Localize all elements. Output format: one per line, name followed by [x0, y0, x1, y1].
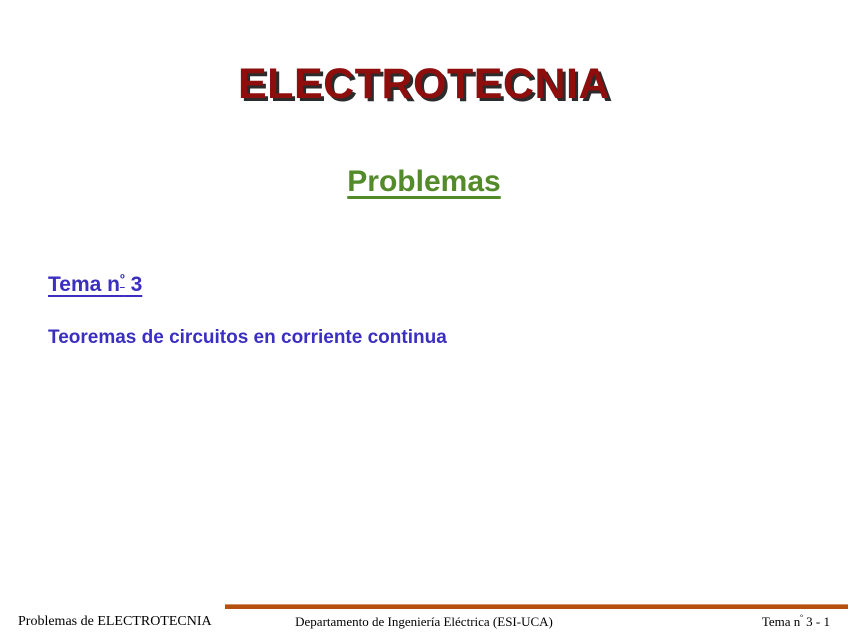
title-block: ELECTROTECNIA [0, 62, 848, 107]
topic-title: Teoremas de circuitos en corriente conti… [48, 327, 447, 349]
footer-page-prefix: Tema n [762, 614, 800, 629]
topic-number-label: Tema nº 3 [48, 273, 142, 297]
page-title: ELECTROTECNIA [238, 62, 610, 107]
footer-page-indicator: Tema nº 3 - 1 [762, 614, 830, 630]
topic-number-prefix: Tema n [48, 273, 120, 296]
topic-number-value: 3 [125, 273, 143, 296]
footer-page-suffix: 3 - 1 [803, 614, 830, 629]
footer-divider [225, 604, 848, 609]
slide-canvas: ELECTROTECNIA Problemas Tema nº 3 Teorem… [0, 0, 848, 635]
subtitle-block: Problemas [0, 165, 848, 199]
page-subtitle: Problemas [347, 165, 500, 199]
footer: Problemas de ELECTROTECNIA Departamento … [0, 614, 848, 635]
footer-center-text: Departamento de Ingeniería Eléctrica (ES… [0, 614, 848, 630]
